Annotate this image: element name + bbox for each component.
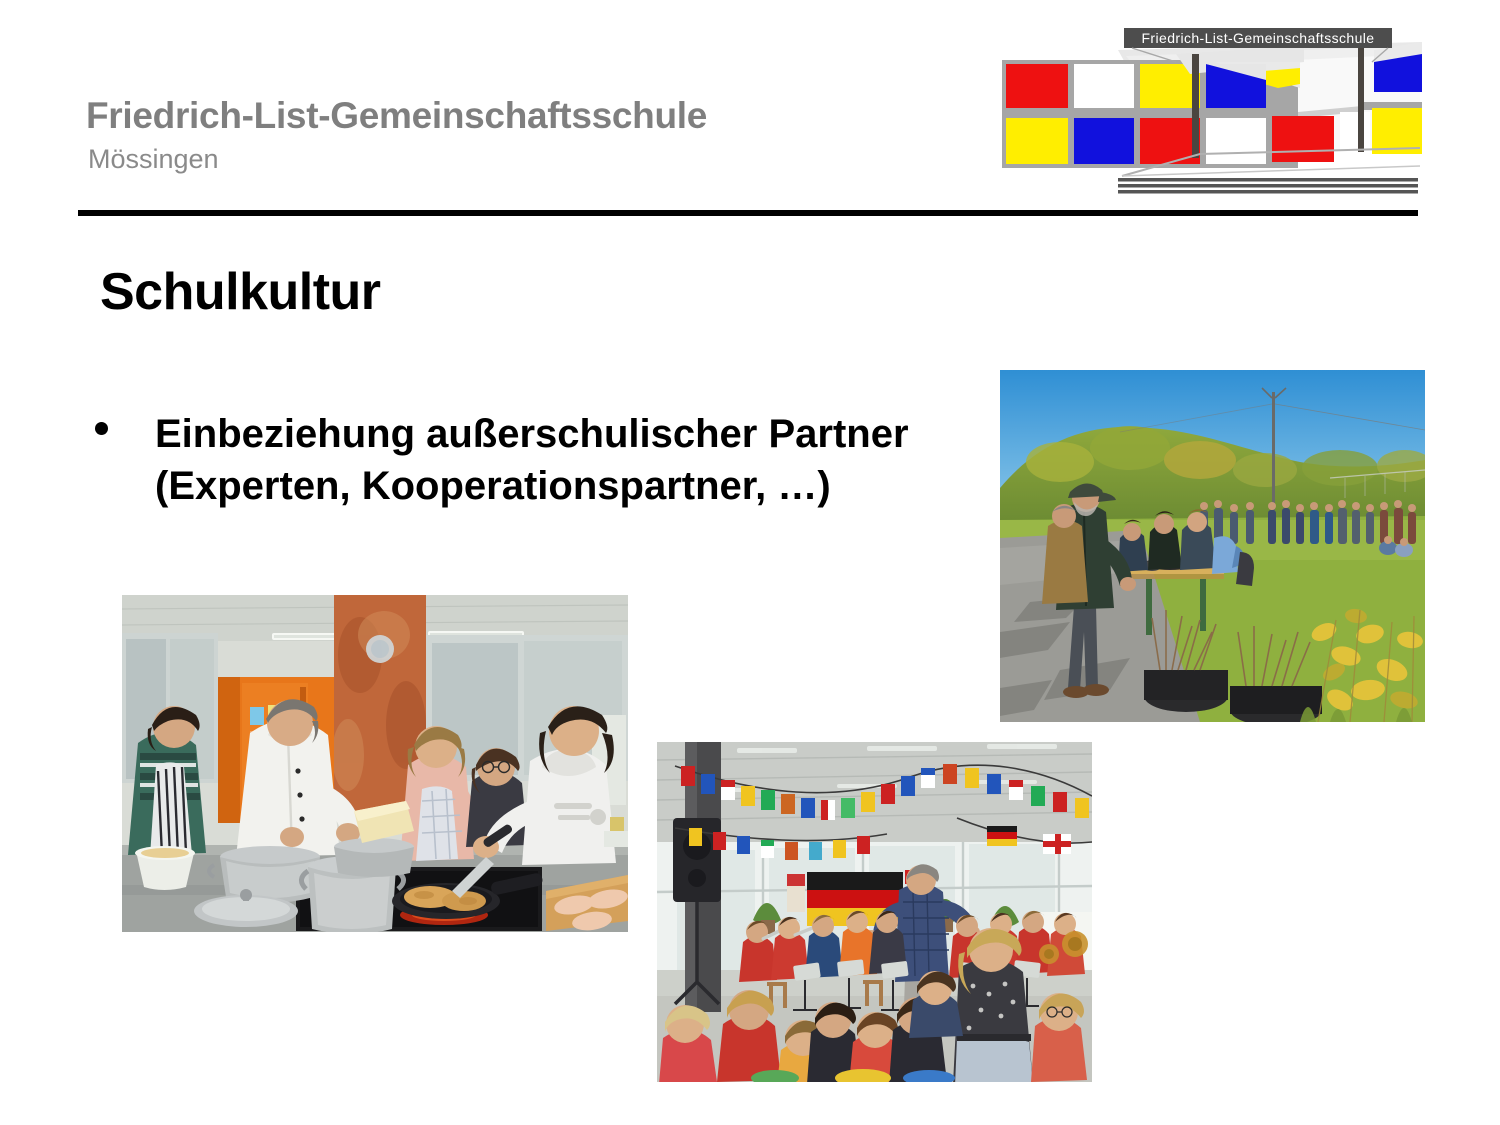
header-school-name: Friedrich-List-Gemeinschaftsschule [86,95,707,137]
bullet-list-item: Einbeziehung außerschulischer Partner (E… [95,408,955,513]
slide-canvas: Friedrich-List-Gemeinschaftsschule Mössi… [0,0,1500,1125]
bullet-text: Einbeziehung außerschulischer Partner (E… [155,408,945,513]
logo-cell-white-3 [1340,112,1370,158]
logo-label-text: Friedrich-List-Gemeinschaftsschule [1141,30,1374,46]
logo-cell-white-1 [1074,64,1134,108]
slide-title: Schulkultur [100,262,381,322]
logo-cell-yellow-3 [1372,108,1422,154]
logo-cell-red-3 [1272,116,1334,162]
school-logo: Friedrich-List-Gemeinschaftsschule [1000,28,1425,198]
logo-post-left [1192,54,1199,158]
photo-tree-planting-event [1000,370,1425,722]
bullet-point-icon [95,422,108,435]
logo-cell-blue-3 [1074,118,1134,164]
photo-cooking-class [122,595,628,932]
logo-post-right [1358,44,1364,152]
logo-cell-white-2 [1206,118,1266,164]
header-divider-rule [78,210,1418,216]
photo-school-concert [657,742,1092,1082]
logo-cell-yellow-2 [1006,118,1068,164]
header-town: Mössingen [88,144,219,175]
logo-cell-red-1 [1006,64,1068,108]
